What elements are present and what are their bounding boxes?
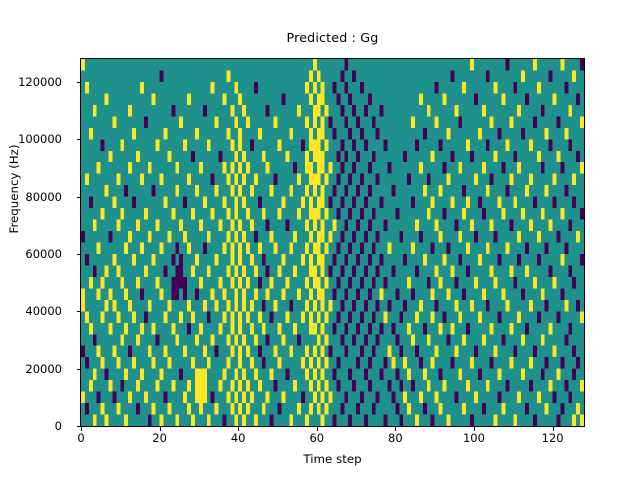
x-tick-label: 60	[309, 431, 324, 445]
x-tick-label: 20	[152, 431, 167, 445]
x-tick-label: 120	[542, 431, 564, 445]
y-tick-label: 80000	[25, 190, 62, 204]
x-tick-mark	[553, 427, 554, 431]
y-tick-mark	[77, 254, 81, 255]
x-tick-label: 80	[388, 431, 403, 445]
x-tick-mark	[395, 427, 396, 431]
x-tick-mark	[317, 427, 318, 431]
y-tick-mark	[77, 311, 81, 312]
x-tick-mark	[81, 427, 82, 431]
y-tick-label: 120000	[18, 75, 62, 89]
page-title: Predicted : Gg	[80, 30, 585, 45]
y-tick-label: 40000	[25, 304, 62, 318]
x-tick-label: 100	[463, 431, 485, 445]
y-tick-label: 0	[55, 419, 62, 433]
y-tick-mark	[77, 197, 81, 198]
x-tick-mark	[238, 427, 239, 431]
y-tick-mark	[77, 426, 81, 427]
y-tick-label: 100000	[18, 132, 62, 146]
y-tick-mark	[77, 82, 81, 83]
y-tick-label: 20000	[25, 362, 62, 376]
x-tick-mark	[474, 427, 475, 431]
matplotlib-figure: Predicted : Gg Time step Frequency (Hz) …	[0, 0, 640, 480]
x-axis-label: Time step	[80, 452, 585, 466]
y-tick-mark	[77, 139, 81, 140]
x-tick-label: 0	[77, 431, 84, 445]
x-tick-label: 40	[231, 431, 246, 445]
heatmap-plot-area	[80, 58, 585, 427]
y-tick-label: 60000	[25, 247, 62, 261]
x-tick-mark	[160, 427, 161, 431]
y-tick-mark	[77, 369, 81, 370]
heatmap-image	[81, 59, 584, 426]
